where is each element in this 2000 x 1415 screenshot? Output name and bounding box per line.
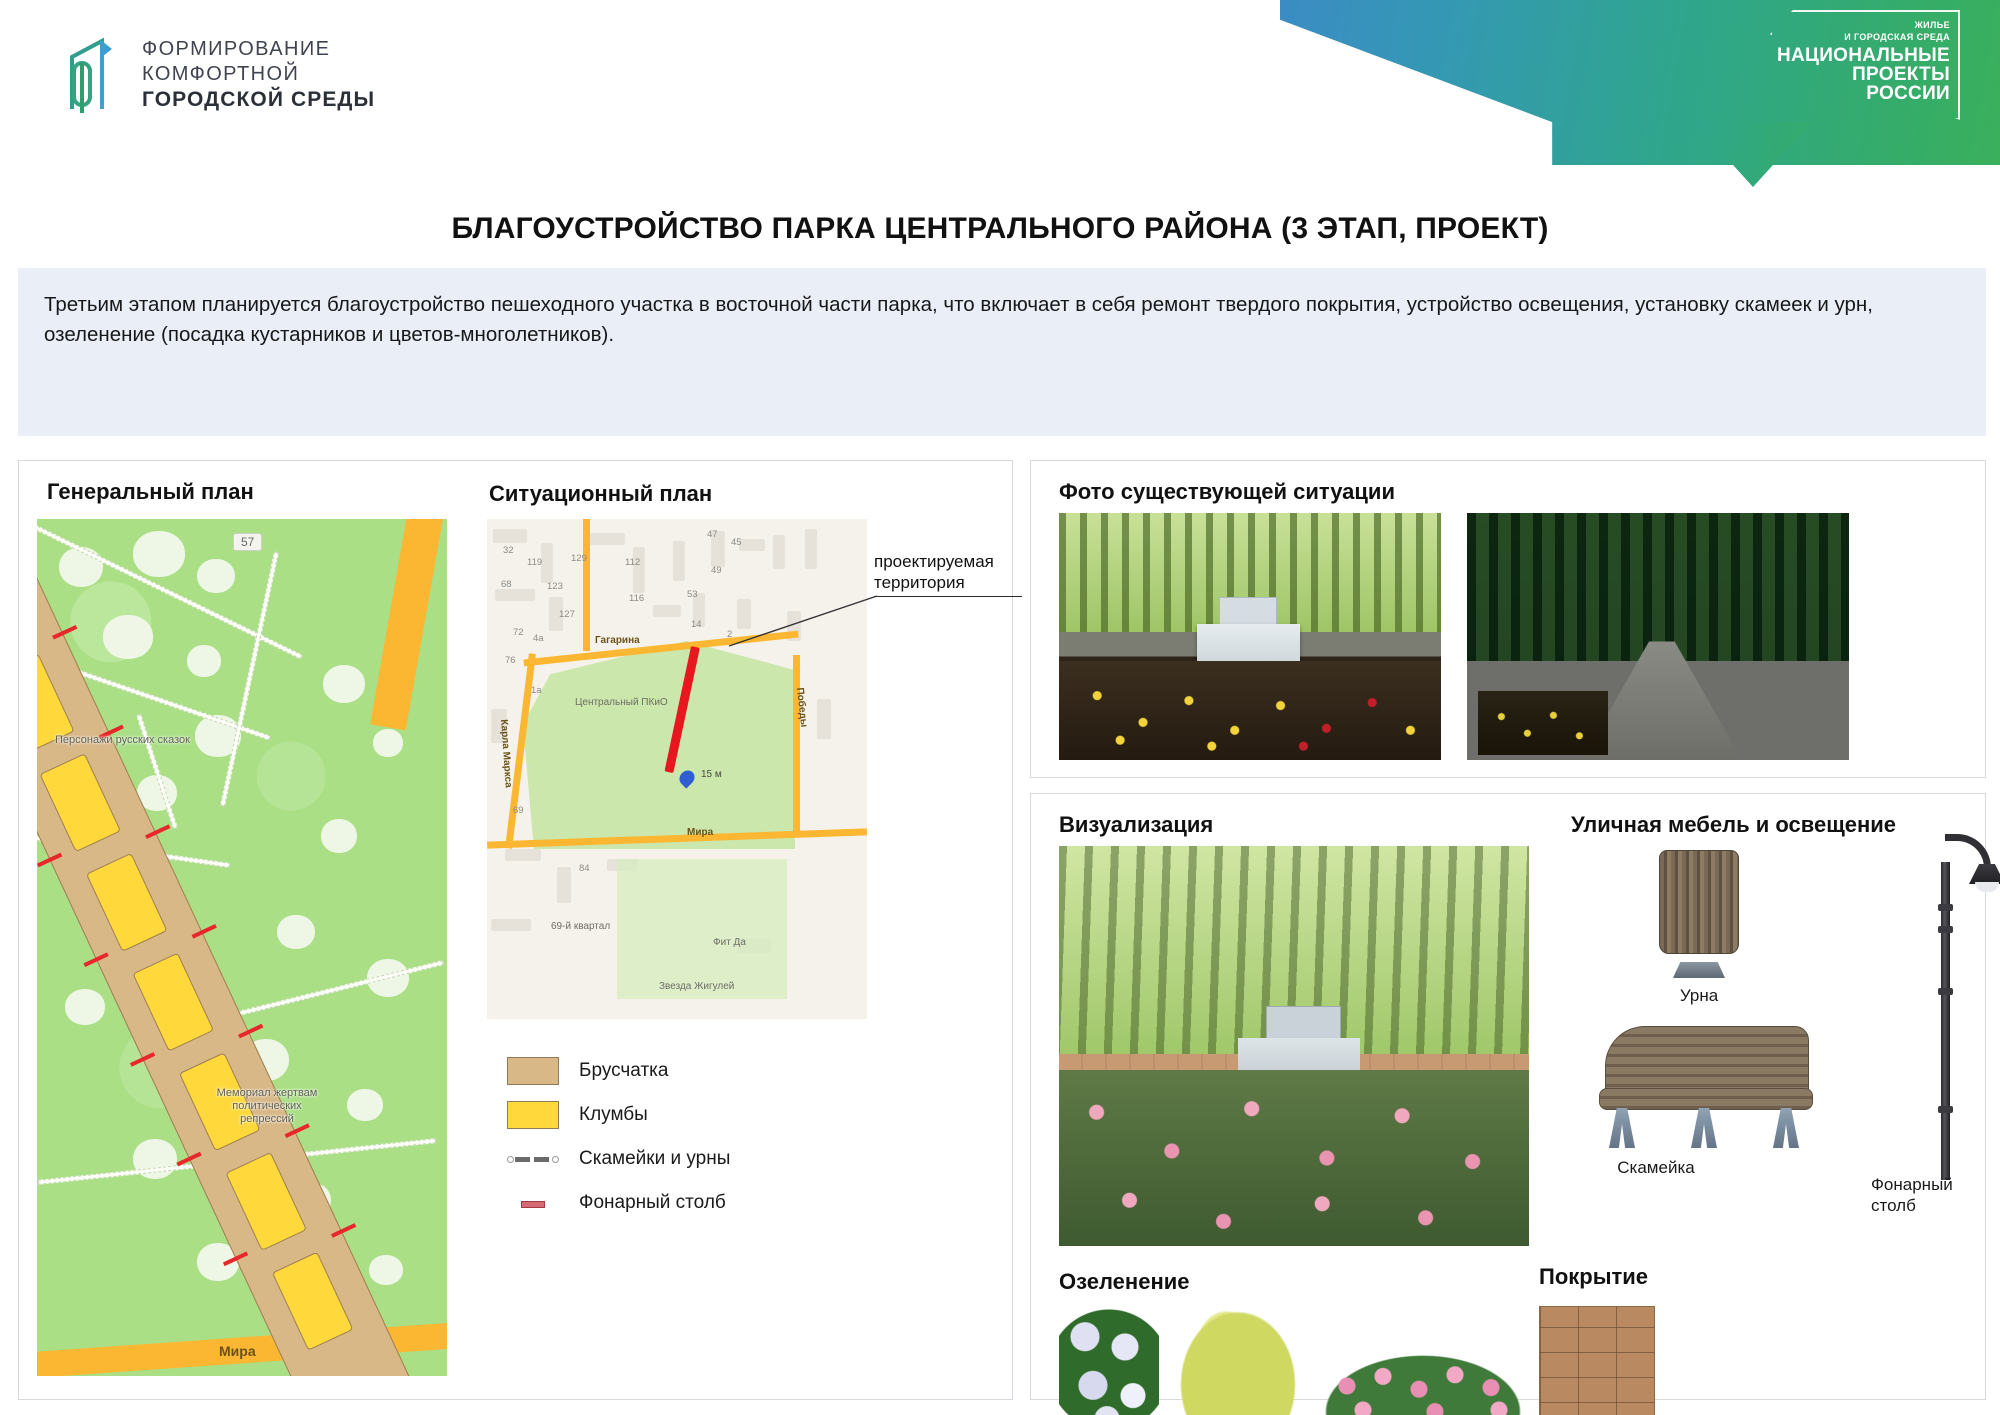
page-title: БЛАГОУСТРОЙСТВО ПАРКА ЦЕНТРАЛЬНОГО РАЙОН… [0,212,2000,246]
np-small-line1: ЖИЛЬЕ [1844,19,1950,31]
trash-bin-icon [1653,850,1745,978]
map-park-area [523,641,795,849]
legend-label: Скамейки и урны [579,1148,730,1170]
map-legend: Брусчатка Клумбы Скамейки и урны Фонарны… [507,1049,730,1225]
brand-line-3: ГОРОДСКОЙ СРЕДЫ [142,87,375,112]
map-label-fairytale: Персонажи русских сказок [55,734,215,747]
bench-backrest [1605,1026,1809,1090]
legend-item-lamp: Фонарный столб [507,1181,730,1225]
color-swatch-icon [507,1101,559,1129]
general-plan-map[interactable]: Мира 57 [37,519,447,1376]
map-label-gagarina: Гагарина [595,635,640,646]
map-road-pobedy [793,655,800,835]
bench-leg [1691,1108,1717,1148]
map-building [491,919,531,931]
map-label-fit: Фит Да [713,937,746,948]
map-building [505,849,541,861]
paving-stone-icon [1539,1306,1655,1415]
flower-bed [132,953,214,1052]
tree-blob [373,729,403,757]
callout-underline [874,596,1022,597]
tree-blob [347,1089,383,1121]
flower-bed [86,853,168,952]
legend-item-paving: Брусчатка [507,1049,730,1093]
map-scale-label: 15 м [701,769,722,780]
tree-blob [103,615,153,659]
tree-blob [323,665,365,703]
map-building [817,699,831,739]
lamp-knob [1938,904,1953,911]
bench-icon [1591,1026,1821,1148]
description-text: Третьим этапом планируется благоустройст… [44,290,1960,350]
map-building [737,599,751,629]
map-building [805,529,817,569]
photo-night-trees [1467,513,1849,661]
furniture-label-urn: Урна [1631,986,1767,1006]
map-building [557,867,571,903]
photo-existing-day[interactable] [1059,513,1441,760]
legend-label: Брусчатка [579,1060,668,1082]
visualization-image[interactable] [1059,846,1529,1246]
map-label-mira: Мира [687,827,713,838]
map-label-kvartal: 69-й квартал [551,921,610,932]
page-header: ЖИЛЬЕ И ГОРОДСКАЯ СРЕДА НАЦИОНАЛЬНЫЕ ПРО… [0,0,2000,185]
national-projects-title: НАЦИОНАЛЬНЫЕ ПРОЕКТЫ РОССИИ [1777,46,1950,103]
visualization-panel: Визуализация Уличная мебель и освещение … [1030,793,1986,1400]
legend-label: Клумбы [579,1104,648,1126]
map-road-vertical [583,519,590,651]
tree-blob [187,645,221,677]
bench-leg [1609,1108,1635,1148]
urn-body [1659,850,1739,954]
brand-line-1: ФОРМИРОВАНИЕ [142,37,375,62]
project-area-callout: проектируемая территория [874,551,1019,593]
np-big-line1: НАЦИОНАЛЬНЫЕ [1777,46,1950,65]
photos-title: Фото существующей ситуации [1059,479,1395,505]
map-building [653,605,681,617]
furniture-label-bench: Скамейка [1571,1158,1741,1178]
bench-seat [1599,1088,1813,1110]
photo-day-flowerbed [1059,661,1441,760]
map-building [495,589,535,601]
legend-label: Фонарный столб [579,1192,726,1214]
lamp-knob [1938,1106,1953,1113]
lamp-glow [1975,882,1999,892]
bench-leg [1773,1108,1799,1148]
flower-bed [272,1252,354,1351]
groundcover-rose-icon [1323,1354,1523,1415]
lamp-symbol-icon [507,1189,559,1217]
national-projects-subtitle: ЖИЛЬЕ И ГОРОДСКАЯ СРЕДА [1844,19,1950,43]
situation-plan-map[interactable]: Гагарина Карла Маркса Победы Мира Центра… [487,519,867,1019]
house-outline-icon [62,35,124,113]
map-park-area-south [617,859,787,999]
greenery-title: Озеленение [1059,1269,1190,1295]
existing-photos-panel: Фото существующей ситуации [1030,460,1986,778]
brand-line-2: КОМФОРТНОЙ [142,62,375,87]
photo-existing-night[interactable] [1467,513,1849,760]
map-building [585,533,625,545]
urn-base [1673,962,1725,978]
covering-title: Покрытие [1539,1264,1648,1290]
hydrangea-icon [1059,1306,1159,1415]
tree-blob [197,559,235,593]
street-lamp-icon [1907,820,1993,1180]
visualization-title: Визуализация [1059,812,1213,838]
program-logo: ФОРМИРОВАНИЕ КОМФОРТНОЙ ГОРОДСКОЙ СРЕДЫ [62,35,375,113]
lamp-arm [1945,834,1991,868]
legend-item-benches: Скамейки и урны [507,1137,730,1181]
np-big-line3: РОССИИ [1777,84,1950,103]
map-building [673,541,685,581]
bench-symbol-icon [507,1145,559,1173]
viz-rose-bed [1059,1070,1529,1246]
map-label-zvezda: Звезда Жигулей [659,981,734,992]
tree-blob [65,989,105,1025]
poster-page: ЖИЛЬЕ И ГОРОДСКАЯ СРЕДА НАЦИОНАЛЬНЫЕ ПРО… [0,0,2000,1415]
lamp-knob [1938,988,1953,995]
tree-blob [321,819,357,853]
situation-plan-title: Ситуационный план [489,481,712,507]
lamp-knob [1938,926,1953,933]
description-box: Третьим этапом планируется благоустройст… [18,268,1986,436]
color-swatch-icon [507,1057,559,1085]
map-building [633,547,645,593]
national-projects-logo: ЖИЛЬЕ И ГОРОДСКАЯ СРЕДА НАЦИОНАЛЬНЫЕ ПРО… [1770,10,1960,120]
map-building [773,535,785,569]
tree-blob [133,531,185,577]
tree-blob [369,1255,403,1285]
map-building [739,539,765,551]
photo-night-flowerbed [1478,691,1608,755]
tree-blob [277,915,315,949]
furniture-title: Уличная мебель и освещение [1571,812,1896,838]
map-label-karla-marksa: Карла Маркса [498,719,514,788]
spirea-icon [1179,1310,1297,1415]
plans-panel: Генеральный план Ситуационный план [18,460,1013,1400]
furniture-label-lamp: Фонарный столб [1871,1174,1991,1216]
flower-bed [39,753,121,852]
general-plan-title: Генеральный план [47,479,254,505]
map-label-memorial: Мемориал жертвам политических репрессий [207,1087,327,1126]
map-building [541,543,553,583]
tree-blob [59,547,103,587]
legend-item-flowerbeds: Клумбы [507,1093,730,1137]
map-house-number: 57 [233,533,262,551]
map-road-label-mira: Мира [219,1343,256,1359]
map-building [493,529,527,543]
np-big-line2: ПРОЕКТЫ [1777,65,1950,84]
np-small-line2: И ГОРОДСКАЯ СРЕДА [1844,31,1950,43]
program-logo-text: ФОРМИРОВАНИЕ КОМФОРТНОЙ ГОРОДСКОЙ СРЕДЫ [142,37,375,112]
flower-bed [225,1152,307,1251]
map-label-park-name: Центральный ПКиО [575,697,668,708]
